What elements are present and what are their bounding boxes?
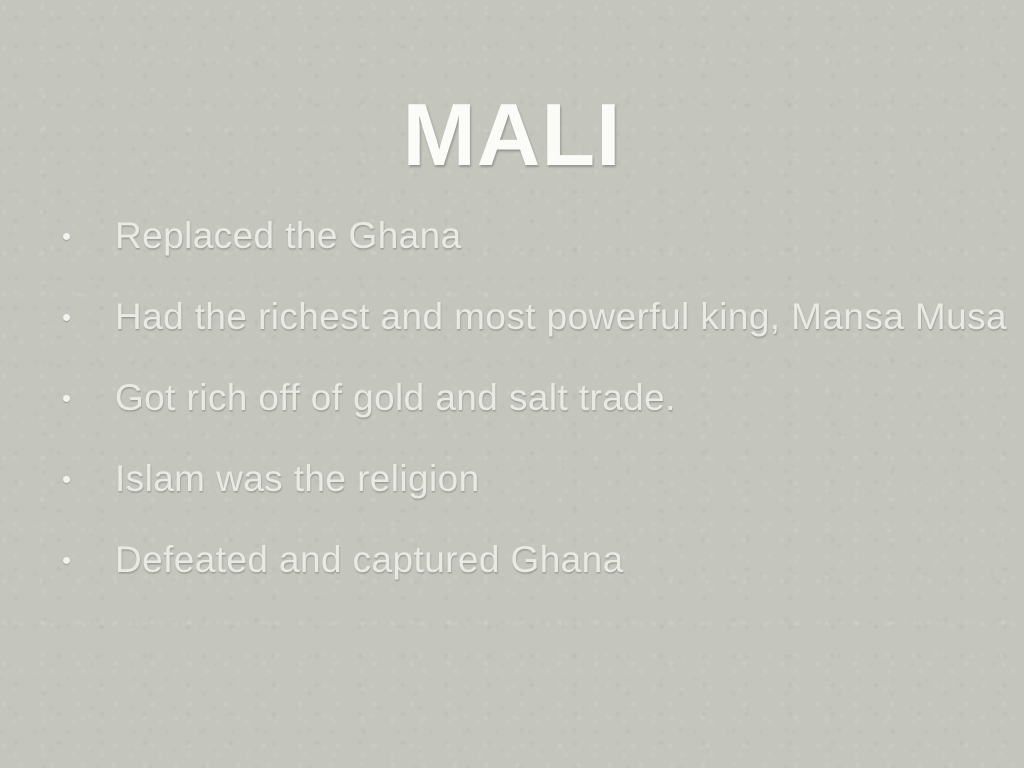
bullet-list: Replaced the Ghana Had the richest and m… [56,196,1006,601]
bullet-dot-icon [63,314,70,321]
page-title: MALI [0,89,1024,181]
list-item: Had the richest and most powerful king, … [56,277,1006,358]
list-item: Got rich off of gold and salt trade. [56,358,1006,439]
bullet-dot-icon [63,557,70,564]
list-item-label: Had the richest and most powerful king, … [115,298,1007,337]
bullet-dot-icon [63,395,70,402]
list-item: Islam was the religion [56,439,1006,520]
list-item-label: Islam was the religion [115,460,1006,499]
presentation-slide: MALI Replaced the Ghana Had the richest … [0,0,1024,768]
bullet-dot-icon [63,476,70,483]
list-item-label: Defeated and captured Ghana [115,541,1006,580]
bullet-dot-icon [63,233,70,240]
list-item-label: Got rich off of gold and salt trade. [115,379,1006,418]
list-item: Replaced the Ghana [56,196,1006,277]
list-item: Defeated and captured Ghana [56,520,1006,601]
list-item-label: Replaced the Ghana [115,217,1006,256]
